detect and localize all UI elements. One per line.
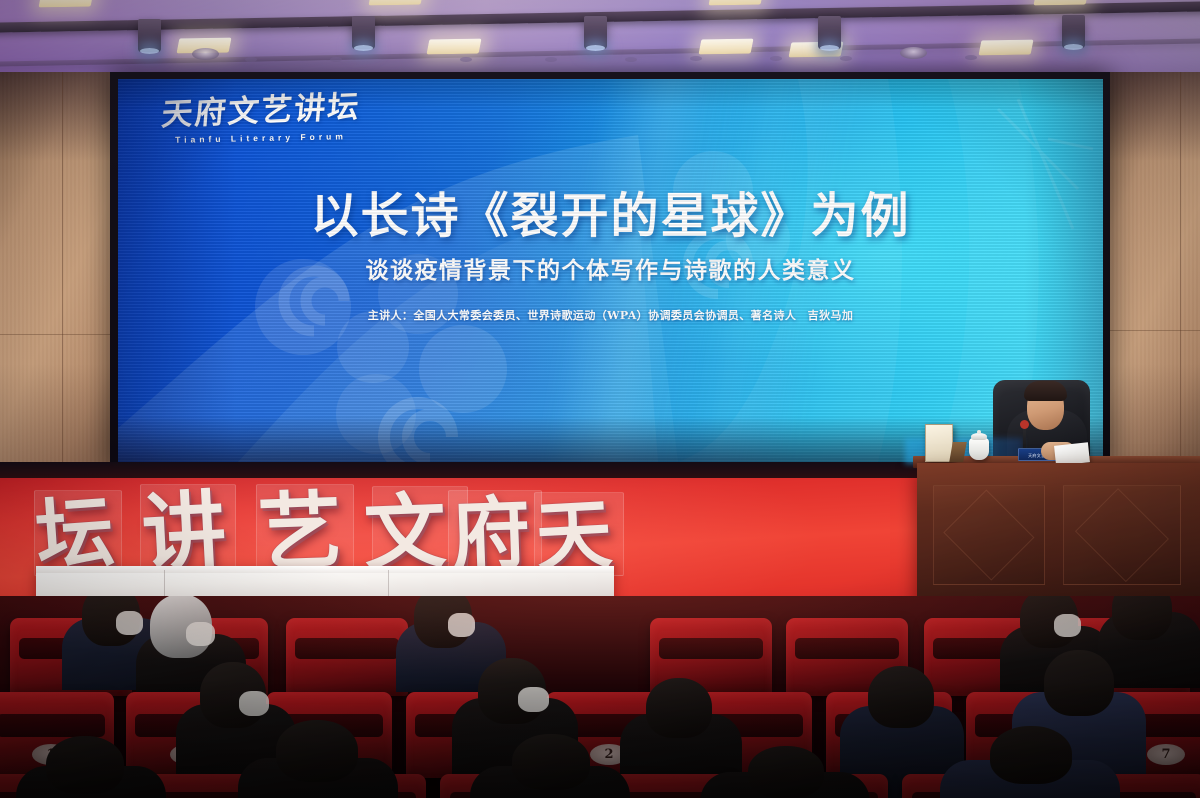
ceiling-downlight bbox=[1062, 15, 1085, 48]
audience-seat[interactable] bbox=[286, 618, 408, 696]
seat-number-badge: 7 bbox=[1147, 744, 1185, 765]
stage-letter: 天 bbox=[534, 496, 614, 576]
ceiling-panel-light bbox=[708, 0, 763, 5]
ceiling-panel-light bbox=[426, 39, 481, 55]
stage-letter: 艺 bbox=[257, 489, 344, 576]
stage-3d-letters: 坛 讲 艺 文 府 天 bbox=[28, 468, 623, 574]
forum-logo: 天府文艺讲坛 Tianfu Literary Forum bbox=[146, 95, 376, 143]
audience-attendee-head bbox=[150, 596, 212, 658]
ceiling-sprinkler bbox=[460, 57, 472, 62]
presentation-speaker-credentials: 主讲人：全国人大常委会委员、世界诗歌运动（WPA）协调委员会协调员、著名诗人 吉… bbox=[118, 307, 1103, 323]
audience-attendee-head bbox=[82, 596, 140, 646]
audience-attendee-head bbox=[646, 678, 712, 738]
podium-panel bbox=[933, 485, 1045, 585]
ceiling-sprinkler bbox=[545, 57, 557, 62]
ceiling-sprinkler bbox=[245, 57, 257, 62]
ceiling-sprinkler bbox=[965, 55, 977, 60]
ceiling-speaker-icon bbox=[192, 48, 219, 60]
wall-seam bbox=[62, 72, 63, 477]
stage-letter: 讲 bbox=[140, 488, 228, 576]
name-placard bbox=[925, 424, 953, 462]
ceiling-panel-light bbox=[368, 0, 423, 5]
teacup bbox=[969, 438, 989, 460]
wall-panel-left bbox=[0, 72, 118, 477]
audience-attendee-head bbox=[478, 658, 546, 724]
ceiling-sprinkler bbox=[690, 56, 702, 61]
podium-diamond-inlay bbox=[943, 489, 1034, 580]
podium-panel bbox=[1063, 485, 1181, 585]
stage-letter: 文 bbox=[363, 491, 448, 576]
ceiling-sprinkler bbox=[625, 57, 637, 62]
stage-letter: 坛 bbox=[33, 493, 116, 576]
wall-seam-horizontal bbox=[0, 334, 118, 335]
ceiling bbox=[0, 0, 1200, 80]
ceiling-downlight bbox=[352, 16, 375, 49]
ceiling-downlight bbox=[584, 16, 607, 49]
forum-logo-chinese: 天府文艺讲坛 bbox=[144, 90, 378, 132]
ceiling-downlight bbox=[818, 16, 841, 49]
audience-attendee-head bbox=[276, 720, 358, 782]
audience-attendee-head bbox=[748, 746, 824, 798]
wall-seam-horizontal bbox=[1106, 330, 1200, 331]
speaker-hair bbox=[1024, 381, 1067, 401]
speaker-podium: 天府文艺讲坛 bbox=[905, 380, 1200, 630]
stage-letter: 府 bbox=[451, 495, 532, 576]
ceiling-sprinkler bbox=[770, 56, 782, 61]
audience-attendee-head bbox=[46, 736, 124, 794]
audience-attendee-head bbox=[200, 662, 266, 728]
audience-attendee-head bbox=[512, 734, 590, 790]
ceiling-sprinkler bbox=[330, 57, 342, 62]
audience-attendee-head bbox=[1044, 650, 1114, 716]
audience-attendee-head bbox=[868, 666, 934, 728]
lecture-hall-photo: 天府文艺讲坛 Tianfu Literary Forum 以长诗《裂开的星球》为… bbox=[0, 0, 1200, 798]
audience-attendee-head bbox=[414, 596, 472, 648]
podium-diamond-inlay bbox=[1075, 488, 1169, 582]
presentation-title: 以长诗《裂开的星球》为例 bbox=[118, 176, 1103, 246]
audience-area: 1 3 2 7 7 bbox=[0, 596, 1200, 798]
audience-attendee-head bbox=[990, 726, 1072, 784]
audience-attendee-head bbox=[1020, 596, 1078, 648]
ceiling-panel-light bbox=[698, 39, 753, 55]
ceiling-panel-light bbox=[1033, 0, 1088, 5]
ceiling-panel-light bbox=[978, 40, 1033, 56]
presentation-subtitle: 谈谈疫情背景下的个体写作与诗歌的人类意义 bbox=[118, 251, 1103, 285]
audience-attendee-head bbox=[1112, 596, 1172, 640]
podium-desk-front bbox=[917, 463, 1200, 603]
ceiling-speaker-icon bbox=[900, 47, 927, 59]
ceiling-panel-light bbox=[38, 0, 93, 7]
ceiling-downlight bbox=[138, 19, 161, 52]
ceiling-sprinkler bbox=[840, 56, 852, 61]
